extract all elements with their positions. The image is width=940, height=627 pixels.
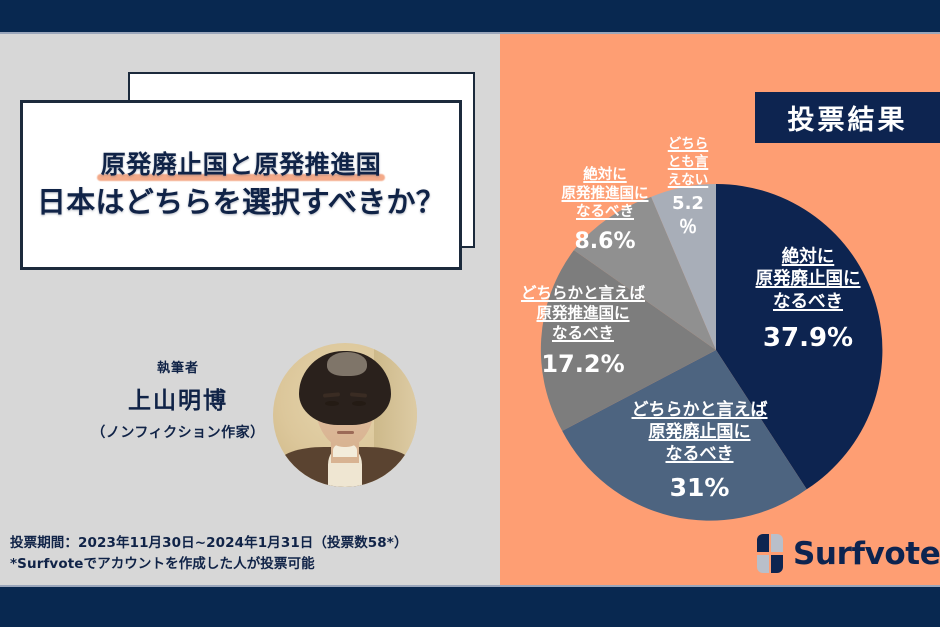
author-occupation: （ノンフィクション作家） (88, 422, 268, 442)
pie-value-dochiratomo-ienai: 5.2 (660, 192, 716, 216)
pie-label-dochiraka-haishi: どちらかと言えば 原発廃止国に なるべき 31% (592, 400, 807, 504)
author-name: 上山明博 (88, 381, 268, 415)
title-line-2: 日本はどちらを選択すべきか？ (37, 186, 445, 219)
pie-label-line: どちら (660, 136, 716, 154)
result-badge-label: 投票結果 (788, 98, 908, 137)
surfvote-logo: Surfvote (757, 532, 940, 576)
pie-label-line: なるべき (530, 203, 680, 222)
pie-label-line: なるべき (592, 444, 807, 466)
pie-label-line: なるべき (713, 291, 903, 313)
title-card: 原発廃止国と原発推進国 日本はどちらを選択すべきか？ (20, 100, 462, 270)
author-portrait-avatar (273, 343, 417, 487)
pie-label-line: とも言 (660, 154, 716, 172)
pie-label-line: 絶対に (713, 246, 903, 268)
pie-label-line: 原発廃止国に (592, 422, 807, 444)
pie-value-dochiraka-suishin: 17.2% (495, 349, 671, 380)
pie-label-line: どちらかと言えば (592, 400, 807, 422)
portrait-hair-highlight (327, 352, 367, 376)
pie-label-line: 絶対に (530, 166, 680, 185)
author-block: 執筆者 上山明博 （ノンフィクション作家） (88, 357, 268, 442)
pie-label-line: えない (660, 172, 716, 190)
author-role-label: 執筆者 (88, 357, 268, 376)
title-line-1: 原発廃止国と原発推進国 (101, 150, 382, 179)
vote-period-line: 投票期間：2023年11月30日~2024年1月31日（投票数58*） (10, 533, 408, 554)
bottom-navy-bar (0, 585, 940, 627)
pie-label-zettai-suishin: 絶対に 原発推進国に なるべき 8.6% (530, 166, 680, 256)
pie-value-dochiratomo-ienai-percent-sign: ％ (660, 216, 716, 240)
top-navy-bar (0, 0, 940, 34)
pie-label-dochiraka-suishin: どちらかと言えば 原発推進国に なるべき 17.2% (495, 284, 671, 380)
logo-quadrant-top-right (771, 534, 783, 552)
infographic-stage: 原発廃止国と原発推進国 日本はどちらを選択すべきか？ 執筆者 上山明博 （ノンフ… (0, 0, 940, 627)
pie-label-line: 原発推進国に (530, 185, 680, 204)
pie-value-zettai-suishin: 8.6% (530, 228, 680, 256)
title-line-1-wrapper: 原発廃止国と原発推進国 (101, 151, 382, 180)
pie-label-line: 原発廃止国に (713, 268, 903, 290)
surfvote-quadrant-icon (757, 534, 784, 574)
logo-quadrant-bottom-left (757, 555, 769, 573)
logo-quadrant-top-left (757, 534, 769, 552)
vote-eligibility-line: *Surfvoteでアカウントを作成した人が投票可能 (10, 554, 408, 575)
pie-label-line: 原発推進国に (495, 304, 671, 324)
pie-value-dochiraka-haishi: 31% (592, 472, 807, 504)
vote-period-note: 投票期間：2023年11月30日~2024年1月31日（投票数58*） *Sur… (10, 533, 408, 575)
pie-label-dochiratomo-ienai: どちら とも言 えない 5.2 ％ (660, 136, 716, 240)
portrait-eye-left (325, 401, 339, 406)
logo-quadrant-bottom-right (771, 555, 783, 573)
pie-label-zettai-haishi: 絶対に 原発廃止国に なるべき 37.9% (713, 246, 903, 355)
result-badge: 投票結果 (755, 92, 940, 143)
pie-label-line: なるべき (495, 324, 671, 344)
portrait-eye-right (352, 401, 366, 406)
pie-value-zettai-haishi: 37.9% (713, 322, 903, 355)
portrait-mouth (337, 431, 354, 434)
surfvote-wordmark: Surfvote (793, 536, 940, 572)
pie-label-line: どちらかと言えば (495, 284, 671, 304)
